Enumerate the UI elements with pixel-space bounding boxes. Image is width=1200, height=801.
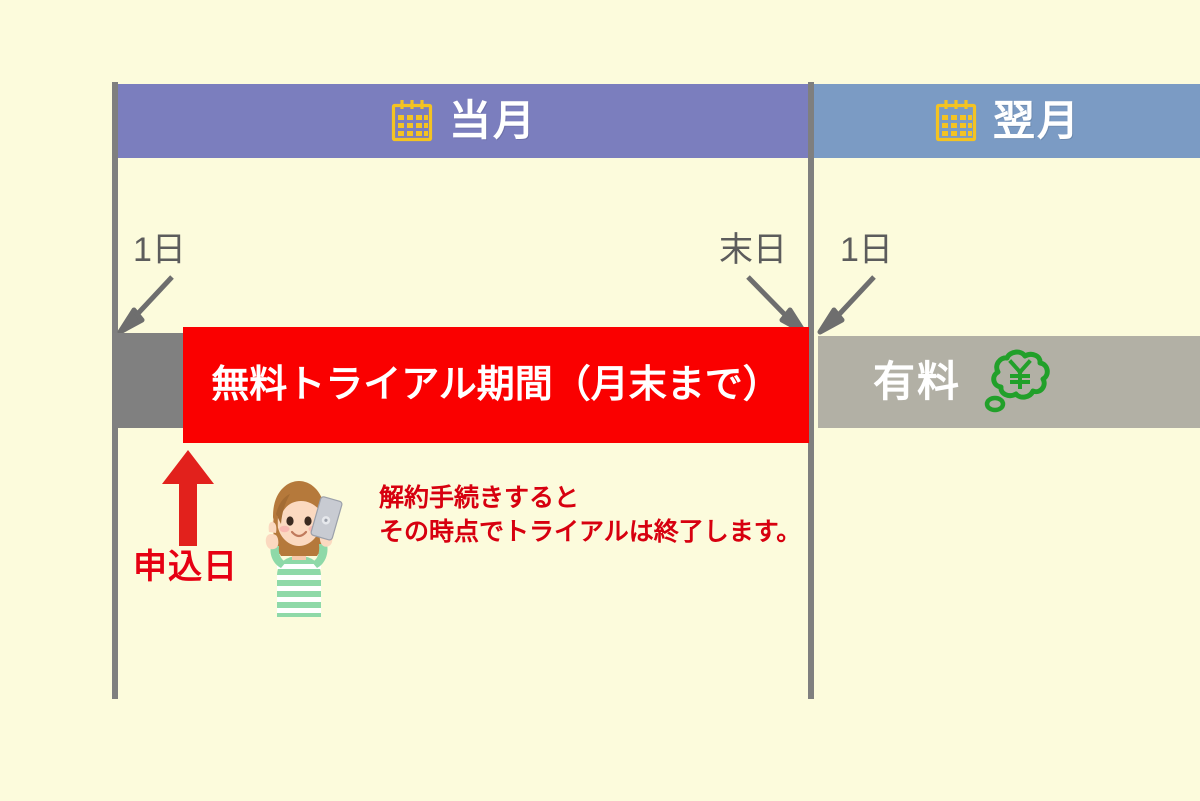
arrow-up-icon-signup (162, 450, 214, 546)
calendar-icon (933, 98, 979, 144)
yen-thought-bubble-icon (983, 349, 1055, 415)
month-header-current: 当月 (118, 84, 808, 158)
cancellation-note: 解約手続きすると その時点でトライアルは終了します。 (379, 482, 801, 549)
calendar-icon (389, 98, 435, 144)
day-label-current-first: 1日 (133, 233, 186, 267)
arrow-down-left-icon-next-first (812, 272, 894, 338)
month-label-current: 当月 (449, 100, 537, 142)
period-bar-paid: 有料 (818, 336, 1200, 428)
arrow-down-left-icon-current-first (112, 272, 192, 338)
woman-with-smartphone-illustration (247, 472, 351, 617)
period-bar-free-trial: 無料トライアル期間（月末まで） (183, 327, 809, 443)
diagram-canvas: 当月 (0, 0, 1200, 801)
signup-date-label: 申込日 (133, 550, 238, 584)
month-header-next: 翌月 (814, 84, 1200, 158)
month-label-next: 翌月 (993, 100, 1081, 142)
day-label-current-last: 末日 (719, 233, 787, 267)
period-bar-before-signup (113, 333, 183, 428)
free-trial-label: 無料トライアル期間（月末まで） (211, 366, 781, 404)
day-label-next-first: 1日 (840, 233, 893, 267)
paid-label: 有料 (873, 361, 961, 403)
